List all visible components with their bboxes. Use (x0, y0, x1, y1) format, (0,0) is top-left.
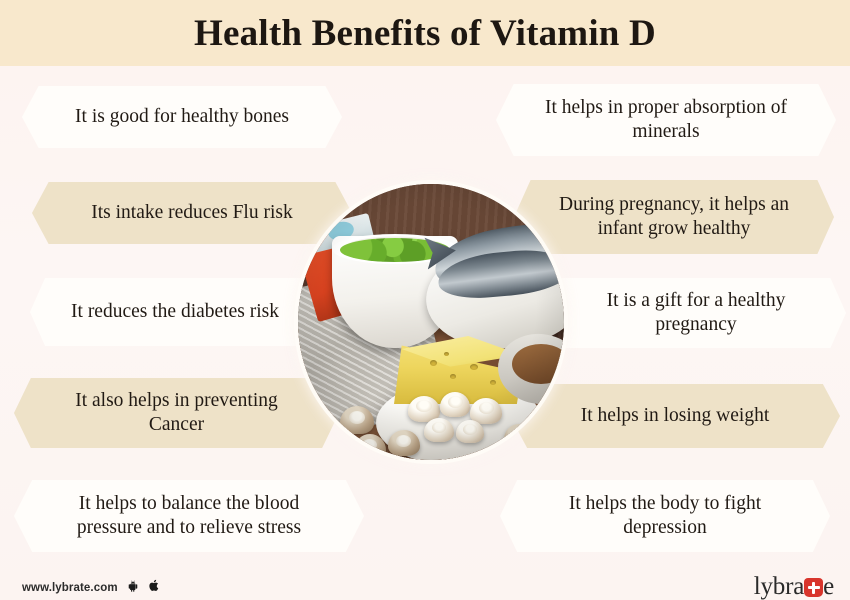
benefit-text: It helps to balance the blood pressure a… (48, 492, 330, 540)
benefit-callout-right-3[interactable]: It is a gift for a healthy pregnancy (546, 278, 846, 348)
benefit-text: During pregnancy, it helps an infant gro… (548, 193, 800, 241)
benefit-text: It helps the body to fight depression (534, 492, 796, 540)
medical-cross-icon (804, 578, 823, 597)
apple-icon[interactable] (148, 578, 161, 598)
benefit-text: It helps in losing weight (544, 404, 806, 428)
photo-vignette (298, 184, 564, 460)
benefit-text: It is a gift for a healthy pregnancy (580, 289, 812, 337)
benefit-callout-left-5[interactable]: It helps to balance the blood pressure a… (14, 480, 364, 552)
benefit-text: It helps in proper absorption of mineral… (530, 96, 802, 144)
benefit-callout-left-3[interactable]: It reduces the diabetes risk (30, 278, 320, 346)
benefit-callout-left-4[interactable]: It also helps in preventing Cancer (14, 378, 339, 448)
vitamin-d-foods-photo (298, 184, 564, 460)
site-url[interactable]: www.lybrate.com (22, 582, 118, 594)
footer-left: www.lybrate.com (22, 578, 161, 598)
page-title: Health Benefits of Vitamin D (194, 12, 656, 55)
benefit-text: It is good for healthy bones (56, 105, 308, 129)
benefit-callout-right-5[interactable]: It helps the body to fight depression (500, 480, 830, 552)
logo-text-prefix: lybra (754, 573, 804, 600)
lybrate-logo[interactable]: lybra e (754, 573, 834, 600)
benefit-callout-right-1[interactable]: It helps in proper absorption of mineral… (496, 84, 836, 156)
android-icon[interactable] (126, 579, 140, 598)
benefit-text: It also helps in preventing Cancer (48, 389, 305, 437)
photo-content (298, 184, 564, 460)
benefit-text: It reduces the diabetes risk (64, 300, 286, 324)
logo-text-suffix: e (823, 573, 834, 600)
benefit-callout-left-1[interactable]: It is good for healthy bones (22, 86, 342, 148)
benefit-text: Its intake reduces Flu risk (66, 201, 318, 225)
header-band: Health Benefits of Vitamin D (0, 0, 850, 66)
